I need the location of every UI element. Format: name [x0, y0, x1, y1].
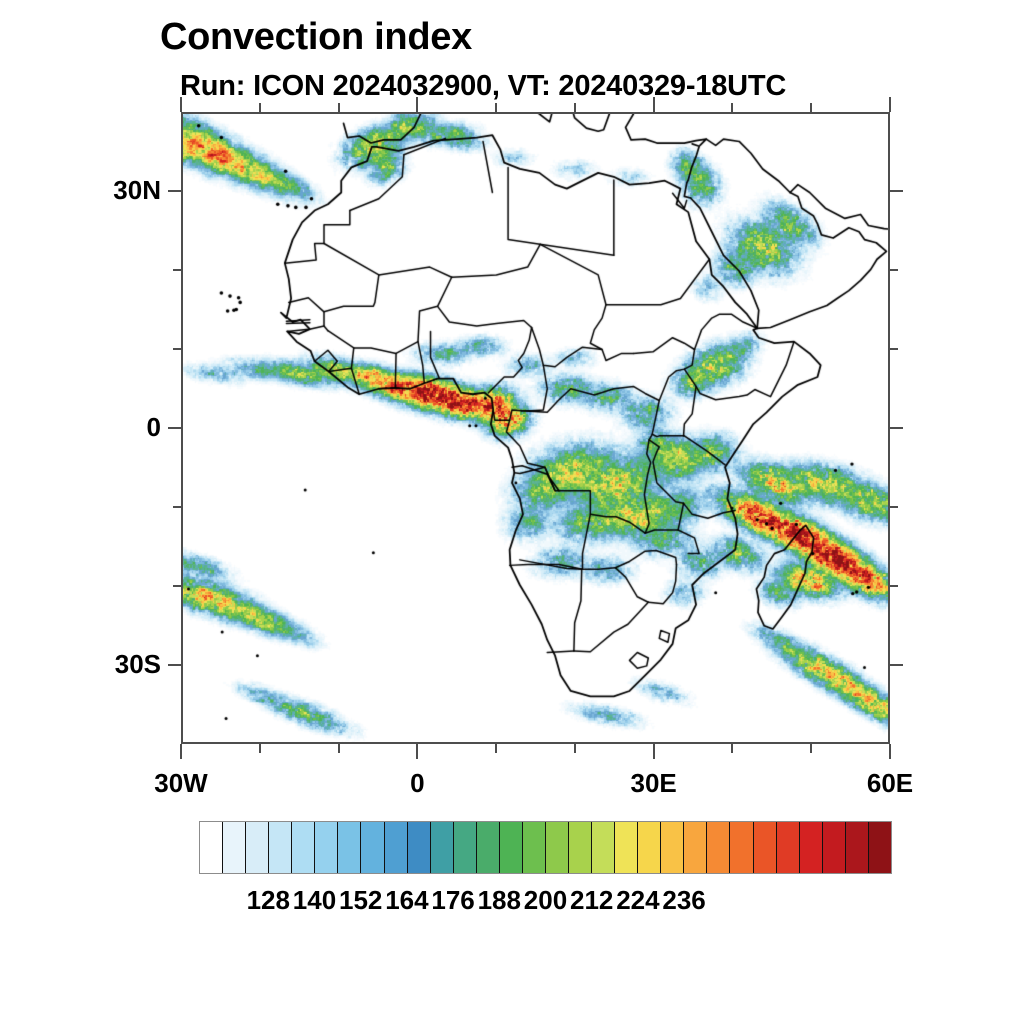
lat-major-tick — [168, 190, 181, 192]
lon-major-tick-top — [180, 97, 182, 112]
colorbar-cell — [246, 822, 269, 873]
colorbar-cell — [200, 822, 223, 873]
colorbar-cell — [569, 822, 592, 873]
lon-tick-label: 0 — [347, 768, 487, 799]
colorbar-cell — [431, 822, 454, 873]
colorbar-cell — [592, 822, 615, 873]
lat-minor-tick-right — [890, 269, 898, 271]
colorbar-cell — [823, 822, 846, 873]
colorbar-cell — [869, 822, 891, 873]
lat-tick-label: 0 — [51, 412, 161, 443]
lon-minor-tick-top — [259, 103, 261, 112]
colorbar-cell — [638, 822, 661, 873]
colorbar-tick-label: 236 — [624, 885, 744, 916]
lon-tick-label: 60E — [820, 768, 960, 799]
colorbar-cell — [684, 822, 707, 873]
colorbar-cell — [500, 822, 523, 873]
colorbar-cell — [338, 822, 361, 873]
figure-canvas: Convection index Run: ICON 2024032900, V… — [0, 0, 1024, 1024]
lon-major-tick-top — [653, 97, 655, 112]
colorbar-cell — [361, 822, 384, 873]
lon-major-tick — [180, 744, 182, 759]
colorbar-cell — [846, 822, 869, 873]
lon-tick-label: 30W — [111, 768, 251, 799]
colorbar-cell — [754, 822, 777, 873]
lon-minor-tick-top — [574, 103, 576, 112]
page-title: Convection index — [160, 16, 472, 59]
colorbar-cell — [454, 822, 477, 873]
lon-major-tick — [416, 744, 418, 759]
lon-minor-tick-top — [338, 103, 340, 112]
colorbar-cell — [707, 822, 730, 873]
colorbar-cell — [615, 822, 638, 873]
lat-minor-tick — [173, 269, 181, 271]
colorbar-cell — [730, 822, 753, 873]
lat-minor-tick-right — [890, 348, 898, 350]
colorbar-cell — [223, 822, 246, 873]
convection-index-heatmap — [183, 114, 888, 742]
lat-major-tick — [168, 427, 181, 429]
colorbar-cell — [546, 822, 569, 873]
lat-tick-label: 30N — [51, 175, 161, 206]
lon-tick-label: 30E — [584, 768, 724, 799]
map-plot-area — [181, 112, 890, 744]
lon-major-tick-top — [416, 97, 418, 112]
colorbar — [199, 821, 892, 874]
colorbar-cell — [408, 822, 431, 873]
lon-minor-tick — [574, 744, 576, 753]
colorbar-cell — [269, 822, 292, 873]
lon-major-tick — [889, 744, 891, 759]
lat-minor-tick — [173, 506, 181, 508]
lat-major-tick-right — [890, 664, 903, 666]
lat-major-tick-right — [890, 190, 903, 192]
colorbar-cell — [777, 822, 800, 873]
colorbar-cell — [523, 822, 546, 873]
lon-minor-tick-top — [495, 103, 497, 112]
colorbar-cell — [477, 822, 500, 873]
lon-minor-tick — [495, 744, 497, 753]
lon-minor-tick — [259, 744, 261, 753]
lat-major-tick-right — [890, 427, 903, 429]
colorbar-cell — [315, 822, 338, 873]
lon-major-tick-top — [889, 97, 891, 112]
lat-minor-tick — [173, 348, 181, 350]
colorbar-cell — [292, 822, 315, 873]
lon-minor-tick — [731, 744, 733, 753]
colorbar-cell — [385, 822, 408, 873]
run-valid-time-subtitle: Run: ICON 2024032900, VT: 20240329-18UTC — [180, 70, 786, 103]
lon-minor-tick — [810, 744, 812, 753]
lat-minor-tick — [173, 585, 181, 587]
lat-tick-label: 30S — [51, 649, 161, 680]
colorbar-cell — [661, 822, 684, 873]
lon-major-tick — [653, 744, 655, 759]
lon-minor-tick-top — [810, 103, 812, 112]
lat-minor-tick-right — [890, 585, 898, 587]
lat-major-tick — [168, 664, 181, 666]
lon-minor-tick — [338, 744, 340, 753]
colorbar-cell — [800, 822, 823, 873]
lon-minor-tick-top — [731, 103, 733, 112]
lat-minor-tick-right — [890, 506, 898, 508]
